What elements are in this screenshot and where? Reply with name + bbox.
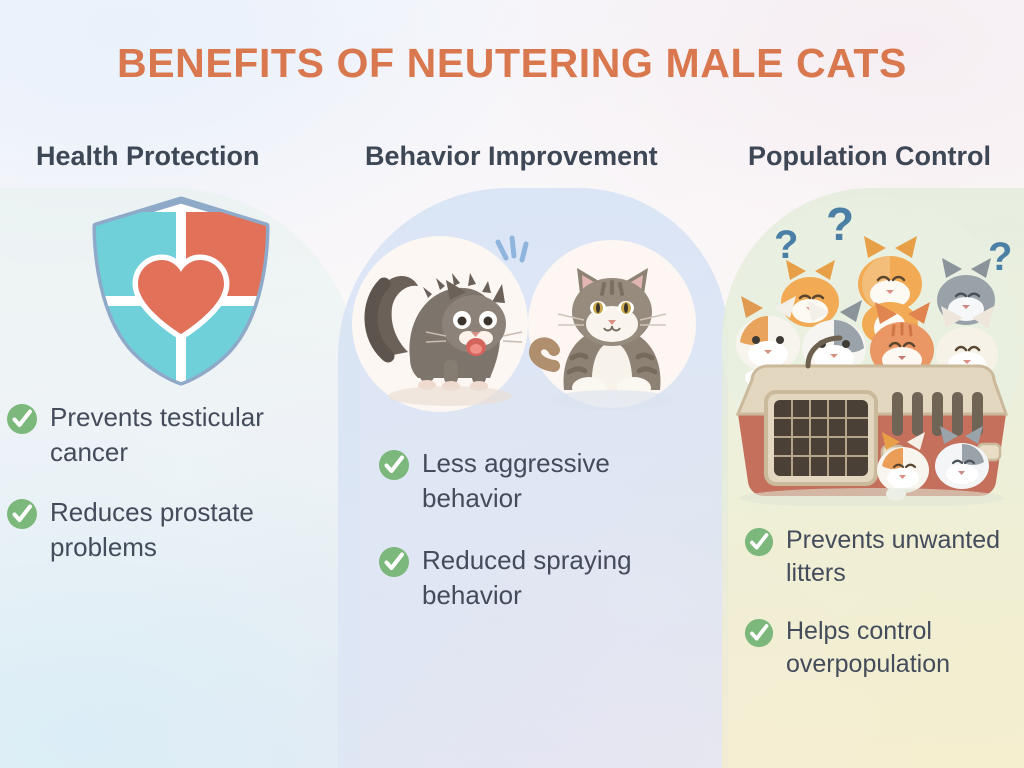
- bullet-text: Less aggressive behavior: [422, 446, 610, 515]
- column-heading-population-control: Population Control: [748, 141, 991, 172]
- bullet-list-population-control: Prevents unwanted litters Helps control …: [744, 524, 1024, 705]
- check-circle-icon: [6, 498, 38, 530]
- list-item: Prevents unwanted litters: [744, 524, 1024, 591]
- check-circle-icon: [744, 618, 774, 648]
- column-heading-behavior-improvement: Behavior Improvement: [365, 141, 658, 172]
- svg-text:?: ?: [826, 198, 854, 250]
- bullet-text: Reduced spraying behavior: [422, 543, 632, 612]
- column-heading-health-protection: Health Protection: [36, 141, 260, 172]
- bullet-text: Reduces prostate problems: [50, 495, 254, 564]
- bullet-list-behavior-improvement: Less aggressive behavior Reduced sprayin…: [378, 446, 698, 640]
- check-circle-icon: [744, 527, 774, 557]
- list-item: Reduces prostate problems: [6, 495, 336, 564]
- bullet-text: Prevents testicular cancer: [50, 400, 264, 469]
- kittens-carrier-illustration: ? ? ?: [716, 196, 1024, 506]
- check-circle-icon: [378, 546, 410, 578]
- bullet-text: Prevents unwanted litters: [786, 524, 1000, 591]
- bullet-text: Helps control overpopulation: [786, 615, 950, 682]
- bullet-list-health-protection: Prevents testicular cancer Reduces prost…: [6, 400, 336, 590]
- list-item: Less aggressive behavior: [378, 446, 698, 515]
- check-circle-icon: [6, 403, 38, 435]
- page-title: BENEFITS OF NEUTERING MALE CATS: [0, 40, 1024, 87]
- two-cats-illustration: [340, 228, 712, 420]
- svg-text:?: ?: [988, 235, 1012, 279]
- infographic-poster: BENEFITS OF NEUTERING MALE CATS Health P…: [0, 0, 1024, 768]
- list-item: Helps control overpopulation: [744, 615, 1024, 682]
- check-circle-icon: [378, 449, 410, 481]
- shield-heart-icon: [78, 192, 284, 388]
- list-item: Prevents testicular cancer: [6, 400, 336, 469]
- list-item: Reduced spraying behavior: [378, 543, 698, 612]
